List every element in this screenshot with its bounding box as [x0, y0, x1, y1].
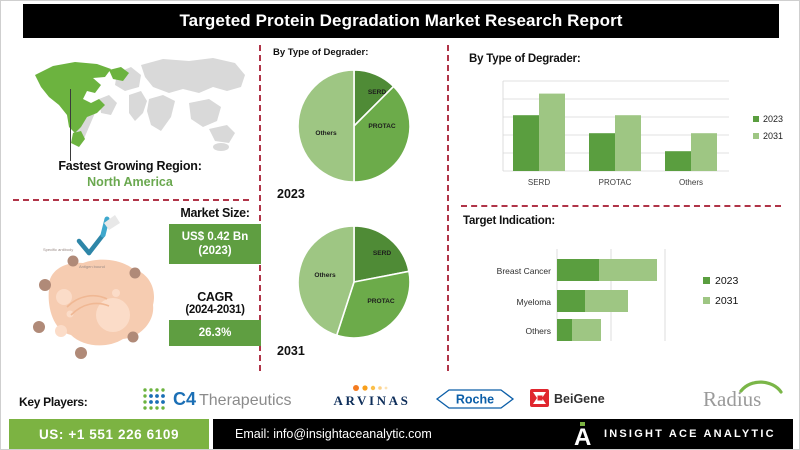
- region-label: Fastest Growing Region:: [15, 159, 245, 173]
- infographic-page: Targeted Protein Degradation Market Rese…: [0, 0, 800, 450]
- market-stats: Market Size: US$ 0.42 Bn (2023) CAGR (20…: [169, 206, 261, 346]
- horizontal-divider-right: [461, 205, 781, 207]
- pie-chart-2023: SERD PROTAC Others: [289, 67, 419, 185]
- world-map-icon: [13, 47, 251, 159]
- world-map: [13, 47, 251, 159]
- bar-chart-title: By Type of Degrader:: [469, 53, 580, 65]
- c4-logo-text: C4: [173, 389, 196, 409]
- map-pointer-line: [70, 89, 71, 161]
- arvinas-logo-text: ARVINAS: [334, 393, 411, 408]
- degrader-bar-chart: SERD PROTAC Others 2023 2031: [461, 71, 796, 196]
- pie-2031-year: 2031: [277, 344, 305, 358]
- arvinas-logo: ARVINAS: [326, 383, 418, 414]
- region-value: North America: [15, 175, 245, 189]
- fastest-growing-region-block: Fastest Growing Region: North America: [15, 159, 245, 189]
- target-indication-chart: Breast Cancer Myeloma Others 2023 2031: [461, 239, 796, 361]
- target-chart-legend: 2023 2031: [703, 275, 739, 307]
- market-size-value: US$ 0.42 Bn: [182, 231, 248, 243]
- legend-swatch-2023: [703, 277, 710, 284]
- hbar-others-2031: [572, 319, 601, 341]
- cagr-value: 26.3%: [199, 327, 232, 339]
- bar-serd-2023: [513, 115, 539, 171]
- cancer-cell-antibody-icon: Specific antibody Antigen bound: [21, 211, 186, 366]
- brand-name: INSIGHT ACE ANALYTIC: [604, 428, 776, 440]
- pie-label-protac: PROTAC: [368, 123, 396, 130]
- hbar-myeloma-2031: [585, 290, 628, 312]
- svg-text:Specific antibody: Specific antibody: [43, 247, 73, 252]
- target-indication-title: Target Indication:: [463, 215, 555, 227]
- cagr-block: CAGR (2024-2031) 26.3%: [169, 290, 261, 346]
- pie-label-serd: SERD: [373, 250, 392, 257]
- legend-label-2031: 2031: [763, 131, 783, 141]
- legend-label-2023: 2023: [715, 275, 739, 287]
- pie-slice-others: [298, 70, 354, 182]
- legend-swatch-2023: [753, 116, 759, 122]
- hbar-breast-cancer-2023: [557, 259, 599, 281]
- svg-text:Antigen bound: Antigen bound: [79, 264, 105, 269]
- radius-logo-text: Radius: [703, 387, 761, 411]
- bar-chart-legend: 2023 2031: [753, 114, 783, 141]
- legend-swatch-2031: [703, 297, 710, 304]
- cagr-title: CAGR: [169, 290, 261, 304]
- x-label-serd: SERD: [528, 178, 550, 187]
- market-size-year: (2023): [198, 245, 231, 257]
- legend-swatch-2031: [753, 133, 759, 139]
- footer-brand: A INSIGHT ACE ANALYTIC: [552, 419, 793, 449]
- roche-logo: Roche: [425, 388, 525, 415]
- cell-illustration: Specific antibody Antigen bound: [21, 211, 186, 366]
- pie-chart-2031: SERD PROTAC Others: [289, 223, 419, 341]
- beigene-logo: BeiGene: [528, 386, 638, 415]
- market-size-box: US$ 0.42 Bn (2023): [169, 224, 261, 264]
- x-label-protac: PROTAC: [599, 178, 632, 187]
- hbar-others-2023: [557, 319, 572, 341]
- legend-label-2023: 2023: [763, 114, 783, 124]
- y-label-others: Others: [525, 326, 551, 336]
- vertical-divider-right: [447, 45, 449, 371]
- cagr-box: 26.3%: [169, 320, 261, 346]
- bar-protac-2023: [589, 133, 615, 171]
- market-size-title: Market Size:: [169, 206, 261, 220]
- c4-therapeutics-logo: C4 Therapeutics: [141, 386, 299, 415]
- bar-others-2031: [691, 133, 717, 171]
- y-label-myeloma: Myeloma: [517, 297, 552, 307]
- bar-serd-2031: [539, 94, 565, 171]
- footer-email[interactable]: Email: info@insightaceanalytic.com: [213, 419, 552, 449]
- x-label-others: Others: [679, 178, 703, 187]
- pie-label-others: Others: [314, 272, 336, 279]
- horizontal-divider-left: [13, 199, 249, 201]
- pie-2023-title: By Type of Degrader:: [273, 47, 368, 58]
- c4-logo-subtext: Therapeutics: [199, 392, 292, 409]
- insight-ace-logo-icon: A: [570, 421, 596, 447]
- roche-logo-text: Roche: [456, 393, 494, 407]
- radius-logo: Radius: [701, 379, 791, 416]
- legend-label-2031: 2031: [715, 295, 739, 307]
- pie-label-others: Others: [315, 130, 337, 137]
- hbar-breast-cancer-2031: [599, 259, 657, 281]
- bar-others-2023: [665, 151, 691, 171]
- pie-label-protac: PROTAC: [367, 298, 395, 305]
- pie-2023-year: 2023: [277, 187, 305, 201]
- y-label-breast-cancer: Breast Cancer: [497, 266, 551, 276]
- pie-label-serd: SERD: [368, 89, 387, 96]
- page-title: Targeted Protein Degradation Market Rese…: [23, 4, 779, 38]
- cagr-period: (2024-2031): [169, 304, 261, 316]
- svg-text:A: A: [574, 424, 591, 447]
- header-banner: Targeted Protein Degradation Market Rese…: [23, 4, 779, 38]
- hbar-myeloma-2023: [557, 290, 585, 312]
- beigene-logo-text: BeiGene: [554, 392, 605, 406]
- bar-protac-2031: [615, 115, 641, 171]
- footer-phone[interactable]: US: +1 551 226 6109: [9, 419, 209, 449]
- key-players-label: Key Players:: [19, 395, 87, 409]
